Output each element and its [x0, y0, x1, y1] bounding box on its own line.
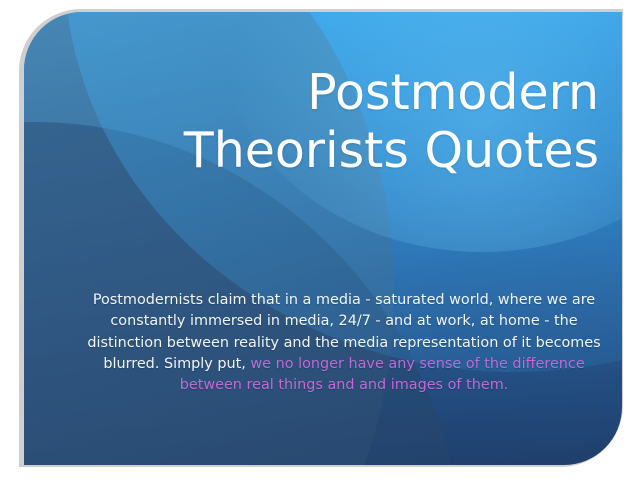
- slide-canvas: Postmodern Theorists Quotes Postmodernis…: [0, 0, 638, 479]
- slide-content: Postmodern Theorists Quotes Postmodernis…: [24, 12, 622, 465]
- slide-title: Postmodern Theorists Quotes: [144, 64, 599, 180]
- presentation-slide: Postmodern Theorists Quotes Postmodernis…: [24, 12, 622, 465]
- slide-body-text: Postmodernists claim that in a media - s…: [86, 290, 602, 396]
